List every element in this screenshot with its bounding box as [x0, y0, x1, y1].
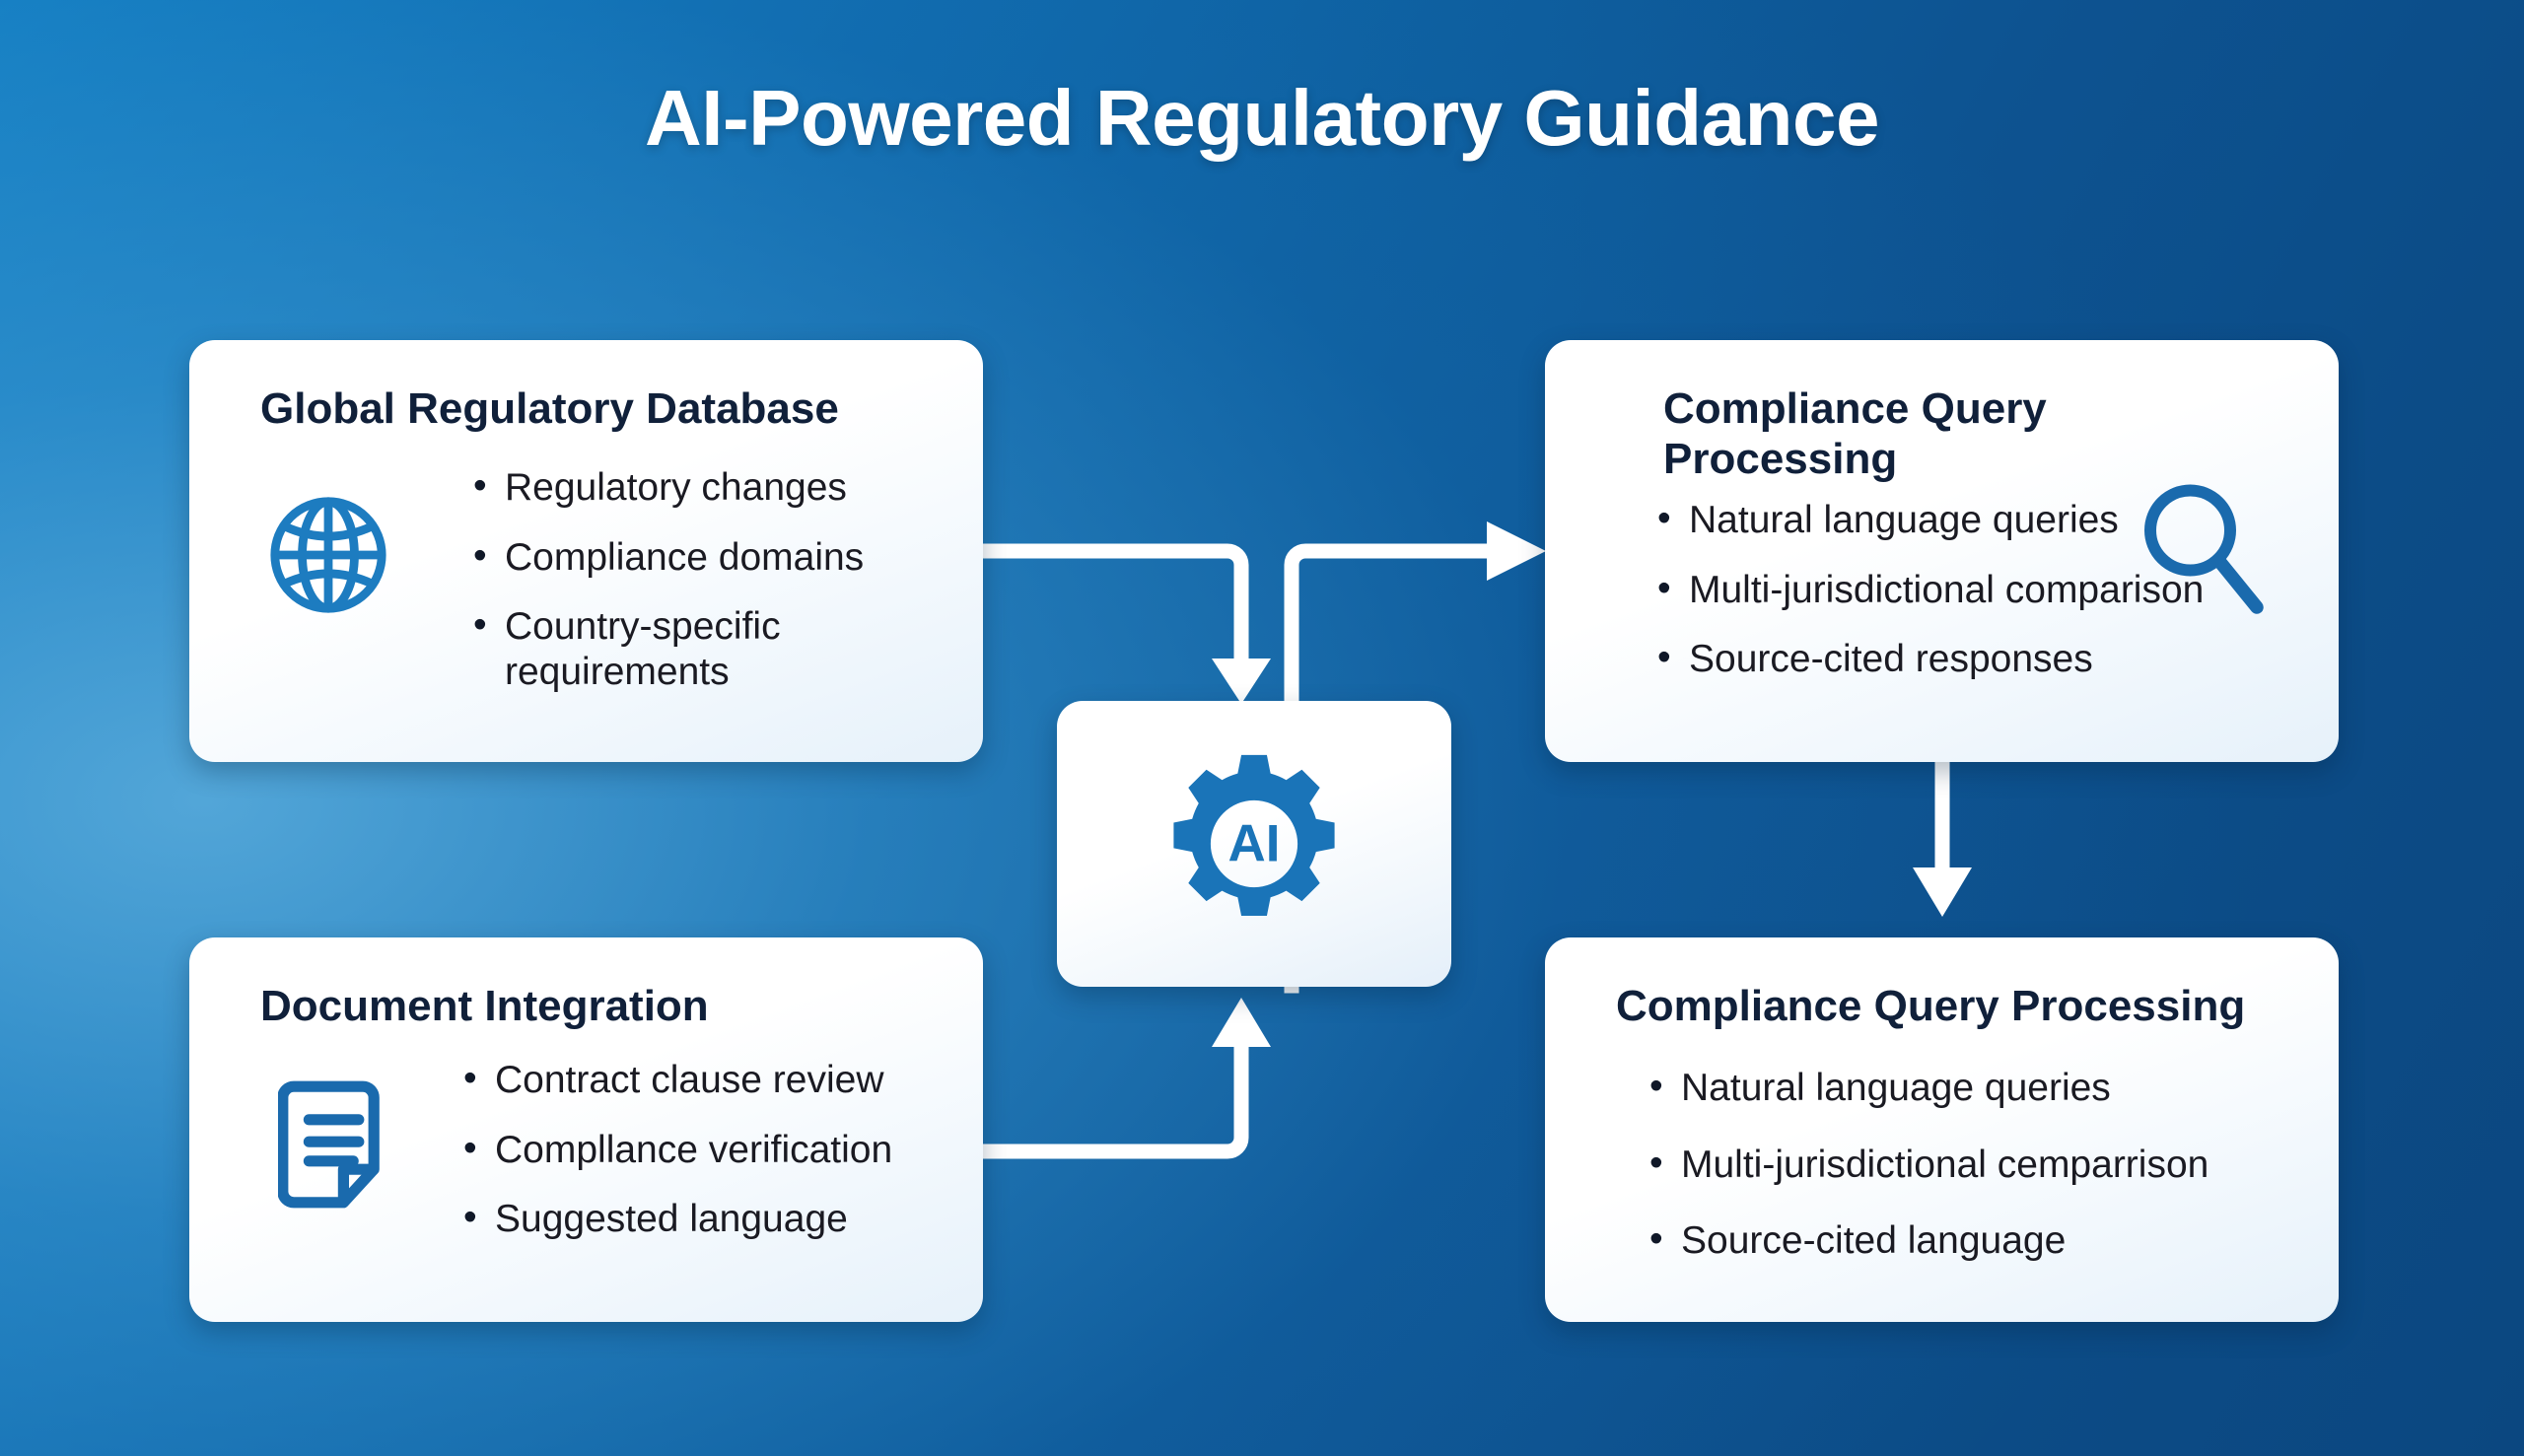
card-title: Global Regulatory Database [260, 383, 950, 434]
bullet-list: Natural language queries Multi-jurisdict… [1644, 1066, 2324, 1295]
globe-icon [266, 493, 390, 617]
list-item: Country-specific requirements [467, 604, 960, 694]
connector-query-to-query [1913, 762, 1972, 917]
list-item: Suggested language [457, 1197, 970, 1242]
connector-docs-to-ai [983, 998, 1271, 1151]
list-item: Natural language queries [1644, 1066, 2324, 1111]
bullet-list: Contract clause review Compllance verifi… [457, 1058, 970, 1267]
bullet-list: Natural language queries Multi-jurisdict… [1651, 498, 2332, 707]
card-compliance-query-processing-bottom[interactable]: Compliance Query Processing Natural lang… [1545, 937, 2339, 1322]
central-ai-node[interactable]: AI [1057, 701, 1451, 987]
bullet-list: Regulatory changes Compliance domains Co… [467, 465, 960, 720]
list-item: Compllance verification [457, 1128, 970, 1173]
list-item: Multi-jurisdictional comparison [1651, 568, 2332, 613]
card-title: Compliance Query Processing [1663, 383, 2137, 484]
page-title: AI-Powered Regulatory Guidance [0, 73, 2524, 164]
list-item: Regulatory changes [467, 465, 960, 511]
card-document-integration[interactable]: Document Integration Contract clause rev… [189, 937, 983, 1322]
list-item: Compliance domains [467, 535, 960, 581]
gear-ai-icon: AI [1157, 747, 1351, 940]
card-global-regulatory-database[interactable]: Global Regulatory Database Regulatory ch… [189, 340, 983, 762]
diagram-canvas: AI-Powered Regulatory Guidance Global Re… [0, 0, 2524, 1456]
ai-label: AI [1228, 815, 1281, 873]
card-compliance-query-processing-top[interactable]: Compliance Query Processing Natural lang… [1545, 340, 2339, 762]
connector-global-to-ai [983, 551, 1271, 704]
card-title: Compliance Query Processing [1616, 981, 2326, 1031]
list-item: Source-cited responses [1651, 637, 2332, 682]
card-title: Document Integration [260, 981, 950, 1031]
list-item: Natural language queries [1651, 498, 2332, 543]
document-icon [278, 1075, 392, 1213]
list-item: Contract clause review [457, 1058, 970, 1103]
list-item: Source-cited language [1644, 1218, 2324, 1264]
list-item: Multi-jurisdictional cemparrison [1644, 1143, 2324, 1188]
